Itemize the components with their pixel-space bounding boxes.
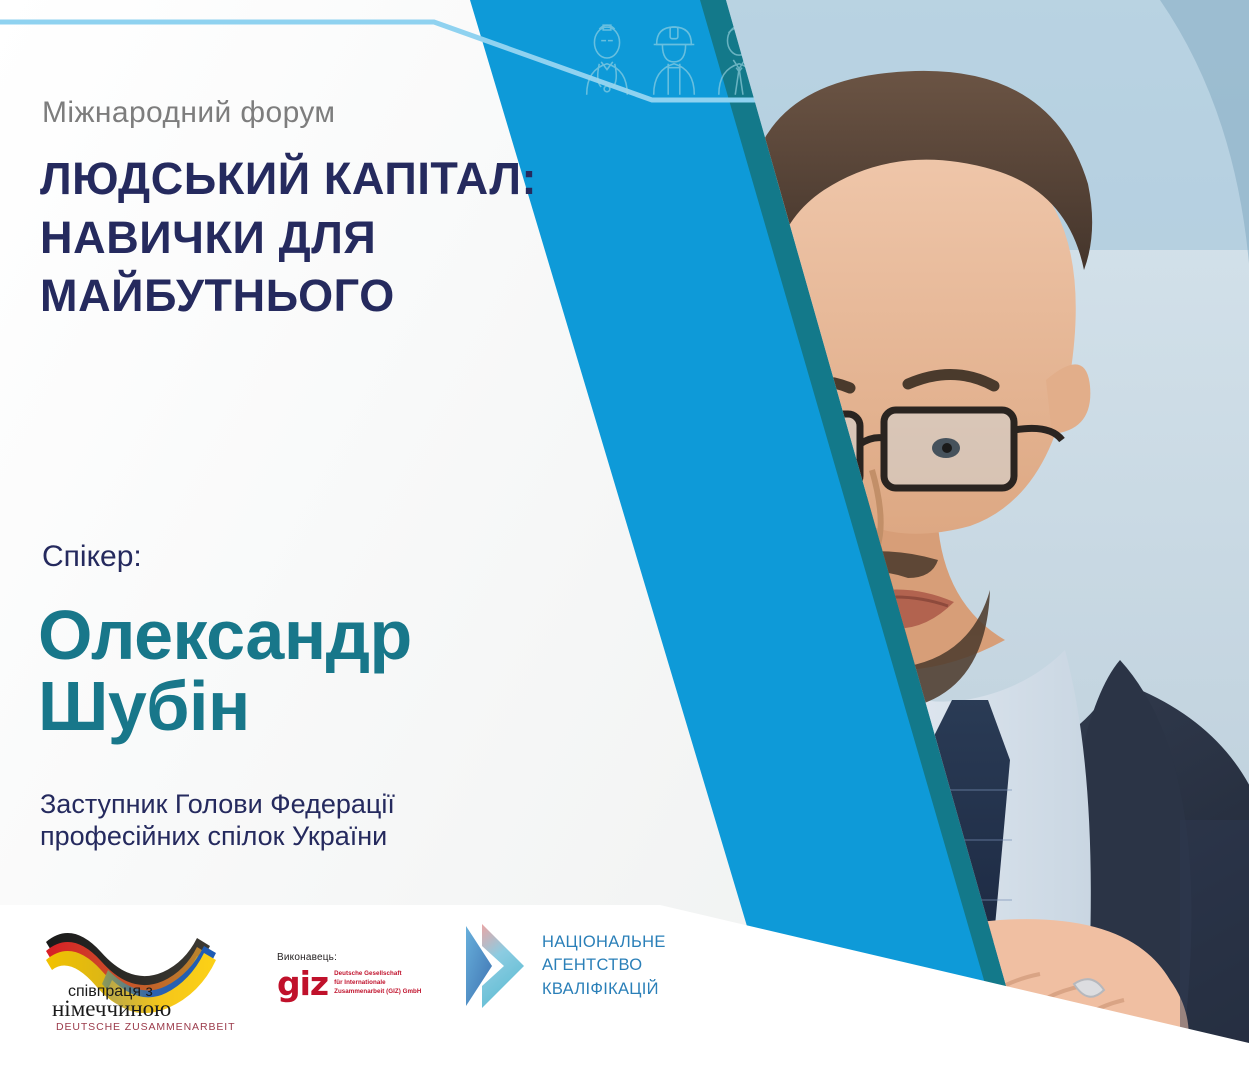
speaker-label: Спікер: <box>42 540 142 574</box>
giz-fullname-line-2: für Internationale <box>334 979 421 988</box>
page-title: ЛЮДСЬКИЙ КАПІТАЛ: НАВИЧКИ ДЛЯ МАЙБУТНЬОГ… <box>40 150 560 326</box>
nak-line-3: КВАЛІФІКАЦІЙ <box>542 978 666 1001</box>
construction-worker-icon <box>645 18 703 98</box>
national-agency-logo-block: НАЦІОНАЛЬНЕ АГЕНТСТВО КВАЛІФІКАЦІЙ <box>462 920 666 1012</box>
giz-fullname: Deutsche Gesellschaft für Internationale… <box>334 970 421 996</box>
speaker-first-name: Олександр <box>38 600 598 671</box>
german-cooperation-logo: співпраця з німеччиною DEUTSCHE ZUSAMMEN… <box>38 918 243 1033</box>
german-logo-line2: німеччиною <box>52 996 171 1021</box>
giz-fullname-line-3: Zusammenarbeit (GIZ) GmbH <box>334 988 421 997</box>
nak-line-1: НАЦІОНАЛЬНЕ <box>542 931 666 954</box>
speaker-role-line-1: Заступник Голови Федерації <box>40 788 580 820</box>
speaker-last-name: Шубін <box>38 671 598 742</box>
headline-line-3: МАЙБУТНЬОГО <box>40 267 560 326</box>
german-logo-line3: DEUTSCHE ZUSAMMENARBEIT <box>56 1021 235 1033</box>
nak-line-2: АГЕНТСТВО <box>542 954 666 977</box>
giz-wordmark: giz <box>277 970 328 997</box>
nak-name: НАЦІОНАЛЬНЕ АГЕНТСТВО КВАЛІФІКАЦІЙ <box>542 931 666 1001</box>
headline-line-2: НАВИЧКИ ДЛЯ <box>40 209 560 268</box>
speaker-name: Олександр Шубін <box>38 600 598 743</box>
speaker-role-line-2: професійних спілок України <box>40 820 580 852</box>
nurse-icon <box>578 18 636 98</box>
kicker-text: Міжнародний форум <box>42 96 335 130</box>
headline-line-1: ЛЮДСЬКИЙ КАПІТАЛ: <box>40 150 560 209</box>
giz-fullname-line-1: Deutsche Gesellschaft <box>334 970 421 979</box>
nak-triangle-icon <box>462 920 528 1012</box>
giz-executor-label: Виконавець: <box>277 952 421 963</box>
event-announcement-poster: Міжнародний форум ЛЮДСЬКИЙ КАПІТАЛ: НАВИ… <box>0 0 1249 1070</box>
giz-logo-block: Виконавець: giz Deutsche Gesellschaft fü… <box>277 952 421 997</box>
speaker-role: Заступник Голови Федерації професійних с… <box>40 788 580 853</box>
